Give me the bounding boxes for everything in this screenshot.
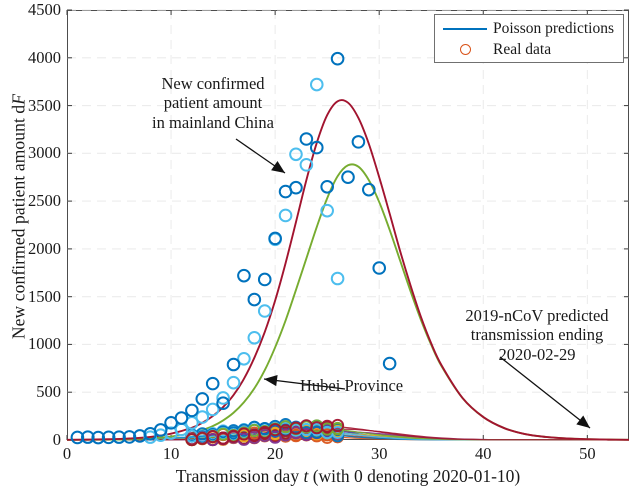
legend-label-poisson: Poisson predictions: [491, 20, 614, 38]
x-tick-label: 50: [557, 444, 617, 464]
annotation-china-line3: in mainland China: [118, 113, 308, 132]
annotation-china-line1: New confirmed: [118, 74, 308, 93]
y-tick-labels: 0500100015002000250030003500400045000102…: [0, 0, 640, 493]
x-axis-label: Transmission day t (with 0 denoting 2020…: [67, 466, 629, 487]
legend-item-poisson[interactable]: Poisson predictions: [439, 18, 617, 39]
annotation-ncov-line3: 2020-02-29: [452, 345, 622, 364]
x-tick-label: 20: [245, 444, 305, 464]
annotation-china-line2: patient amount: [118, 93, 308, 112]
annotation-hubei-line1: Hubei Province: [300, 376, 430, 395]
chart-root: New confirmed patient amount dF 05001000…: [0, 0, 640, 493]
annotation-hubei-province: Hubei Province: [300, 376, 430, 395]
y-tick-label: 3000: [3, 143, 61, 163]
y-tick-label: 1000: [3, 334, 61, 354]
y-tick-label: 2500: [3, 191, 61, 211]
y-tick-label: 2000: [3, 239, 61, 259]
legend-item-real-data[interactable]: Real data: [439, 39, 617, 60]
x-tick-label: 10: [141, 444, 201, 464]
y-tick-label: 1500: [3, 287, 61, 307]
annotation-transmission-end: 2019-nCoV predicted transmission ending …: [452, 306, 622, 364]
y-tick-label: 4500: [3, 0, 61, 20]
x-tick-label: 40: [453, 444, 513, 464]
y-tick-label: 4000: [3, 48, 61, 68]
annotation-ncov-line1: 2019-nCoV predicted: [452, 306, 622, 325]
legend-line-swatch: [439, 28, 491, 30]
chart-legend[interactable]: Poisson predictions Real data: [434, 14, 624, 63]
x-axis-label-pre: Transmission day: [176, 466, 304, 486]
annotation-ncov-line2: transmission ending: [452, 325, 622, 344]
legend-label-real-data: Real data: [491, 41, 551, 59]
x-tick-label: 0: [37, 444, 97, 464]
x-axis-label-post: (with 0 denoting 2020-01-10): [308, 466, 520, 486]
legend-circle-marker: [439, 44, 491, 55]
y-tick-label: 500: [3, 382, 61, 402]
y-tick-label: 3500: [3, 96, 61, 116]
annotation-mainland-china: New confirmed patient amount in mainland…: [118, 74, 308, 132]
x-tick-label: 30: [349, 444, 409, 464]
